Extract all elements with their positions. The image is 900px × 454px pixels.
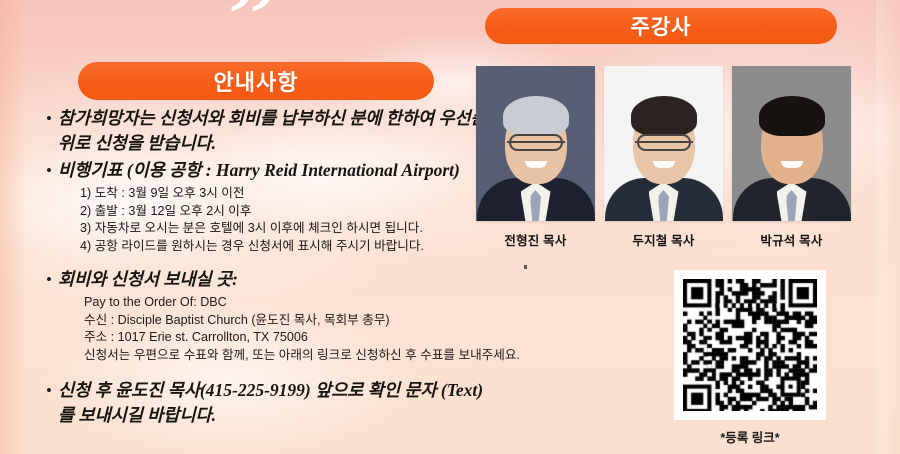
notice-bullet-4: • 신청 후 윤도진 목사(415-225-9199) 앞으로 확인 문자 (T… (40, 378, 490, 428)
bullet-dot-icon: • (40, 158, 58, 183)
notice-bullet-4-text: 신청 후 윤도진 목사(415-225-9199) 앞으로 확인 문자 (Tex… (58, 378, 490, 428)
flight-sub-list: 1) 도착 : 3월 9일 오후 3시 이전 2) 출발 : 3월 12일 오후… (80, 185, 490, 255)
notice-bullet-1: • 참가희망자는 신청서와 회비를 납부하신 분에 한하여 우선순위로 신청을 … (40, 106, 490, 156)
notice-bullet-3: • 회비와 신청서 보내실 곳: (40, 267, 490, 292)
speaker-grid: 전형진 목사두지철 목사박규석 목사 (476, 66, 852, 249)
notice-body: • 참가희망자는 신청서와 회비를 납부하신 분에 한하여 우선순위로 신청을 … (40, 106, 490, 430)
notice-bullet-2-text: 비행기표 (이용 공항 : Harry Reid International A… (58, 158, 460, 183)
notice-bullet-1-text: 참가희망자는 신청서와 회비를 납부하신 분에 한하여 우선순위로 신청을 받습… (58, 106, 490, 156)
payment-line-3: 주소 : 1017 Erie st. Carrollton, TX 75006 (84, 329, 490, 347)
image-speck-artifact (524, 265, 527, 269)
payment-line-1: Pay to the Order Of: DBC (84, 294, 490, 312)
flight-sub-item-3: 3) 자동차로 오시는 분은 호텔에 3시 이후에 체크인 하시면 됩니다. (80, 220, 490, 238)
flight-sub-item-2: 2) 출발 : 3월 12일 오후 2시 이후 (80, 203, 490, 221)
notice-bullet-3-text: 회비와 신청서 보내실 곳: (58, 267, 238, 292)
left-edge-band (0, 0, 26, 454)
speaker-portrait (732, 66, 851, 221)
speaker-name: 박규석 목사 (732, 230, 851, 249)
qr-caption: *등록 링크* (674, 427, 826, 446)
quotation-mark-decoration: ” (228, 0, 278, 62)
right-edge-band (876, 0, 900, 454)
speakers-header-badge: 주강사 (485, 8, 837, 44)
speakers-section: 전형진 목사두지철 목사박규석 목사 (476, 66, 852, 249)
bullet-dot-icon: • (40, 106, 58, 131)
flight-sub-item-1: 1) 도착 : 3월 9일 오후 3시 이전 (80, 185, 490, 203)
speaker-portrait (604, 66, 723, 221)
payment-line-2: 수신 : Disciple Baptist Church (윤도진 목사, 목회… (84, 312, 490, 330)
payment-details: Pay to the Order Of: DBC 수신 : Disciple B… (84, 294, 490, 364)
speaker-card: 박규석 목사 (732, 66, 851, 249)
flight-sub-item-4: 4) 공항 라이드를 원하시는 경우 신청서에 표시해 주시기 바랍니다. (80, 238, 490, 256)
bullet-dot-icon: • (40, 378, 58, 403)
speaker-name: 전형진 목사 (476, 230, 595, 249)
speaker-card: 두지철 목사 (604, 66, 723, 249)
notice-bullet-2: • 비행기표 (이용 공항 : Harry Reid International… (40, 158, 490, 183)
speaker-name: 두지철 목사 (604, 230, 723, 249)
speaker-portrait (476, 66, 595, 221)
poster-canvas: ” 안내사항 • 참가희망자는 신청서와 회비를 납부하신 분에 한하여 우선순… (0, 0, 900, 454)
registration-link-qr-icon[interactable] (683, 279, 817, 411)
bullet-dot-icon: • (40, 267, 58, 292)
registration-qr-section[interactable]: *등록 링크* (674, 270, 826, 446)
speaker-card: 전형진 목사 (476, 66, 595, 249)
qr-code-box[interactable] (674, 270, 826, 420)
notice-header-badge: 안내사항 (78, 62, 434, 100)
payment-line-4: 신청서는 우편으로 수표와 함께, 또는 아래의 링크로 신청하신 후 수표를 … (84, 347, 490, 365)
